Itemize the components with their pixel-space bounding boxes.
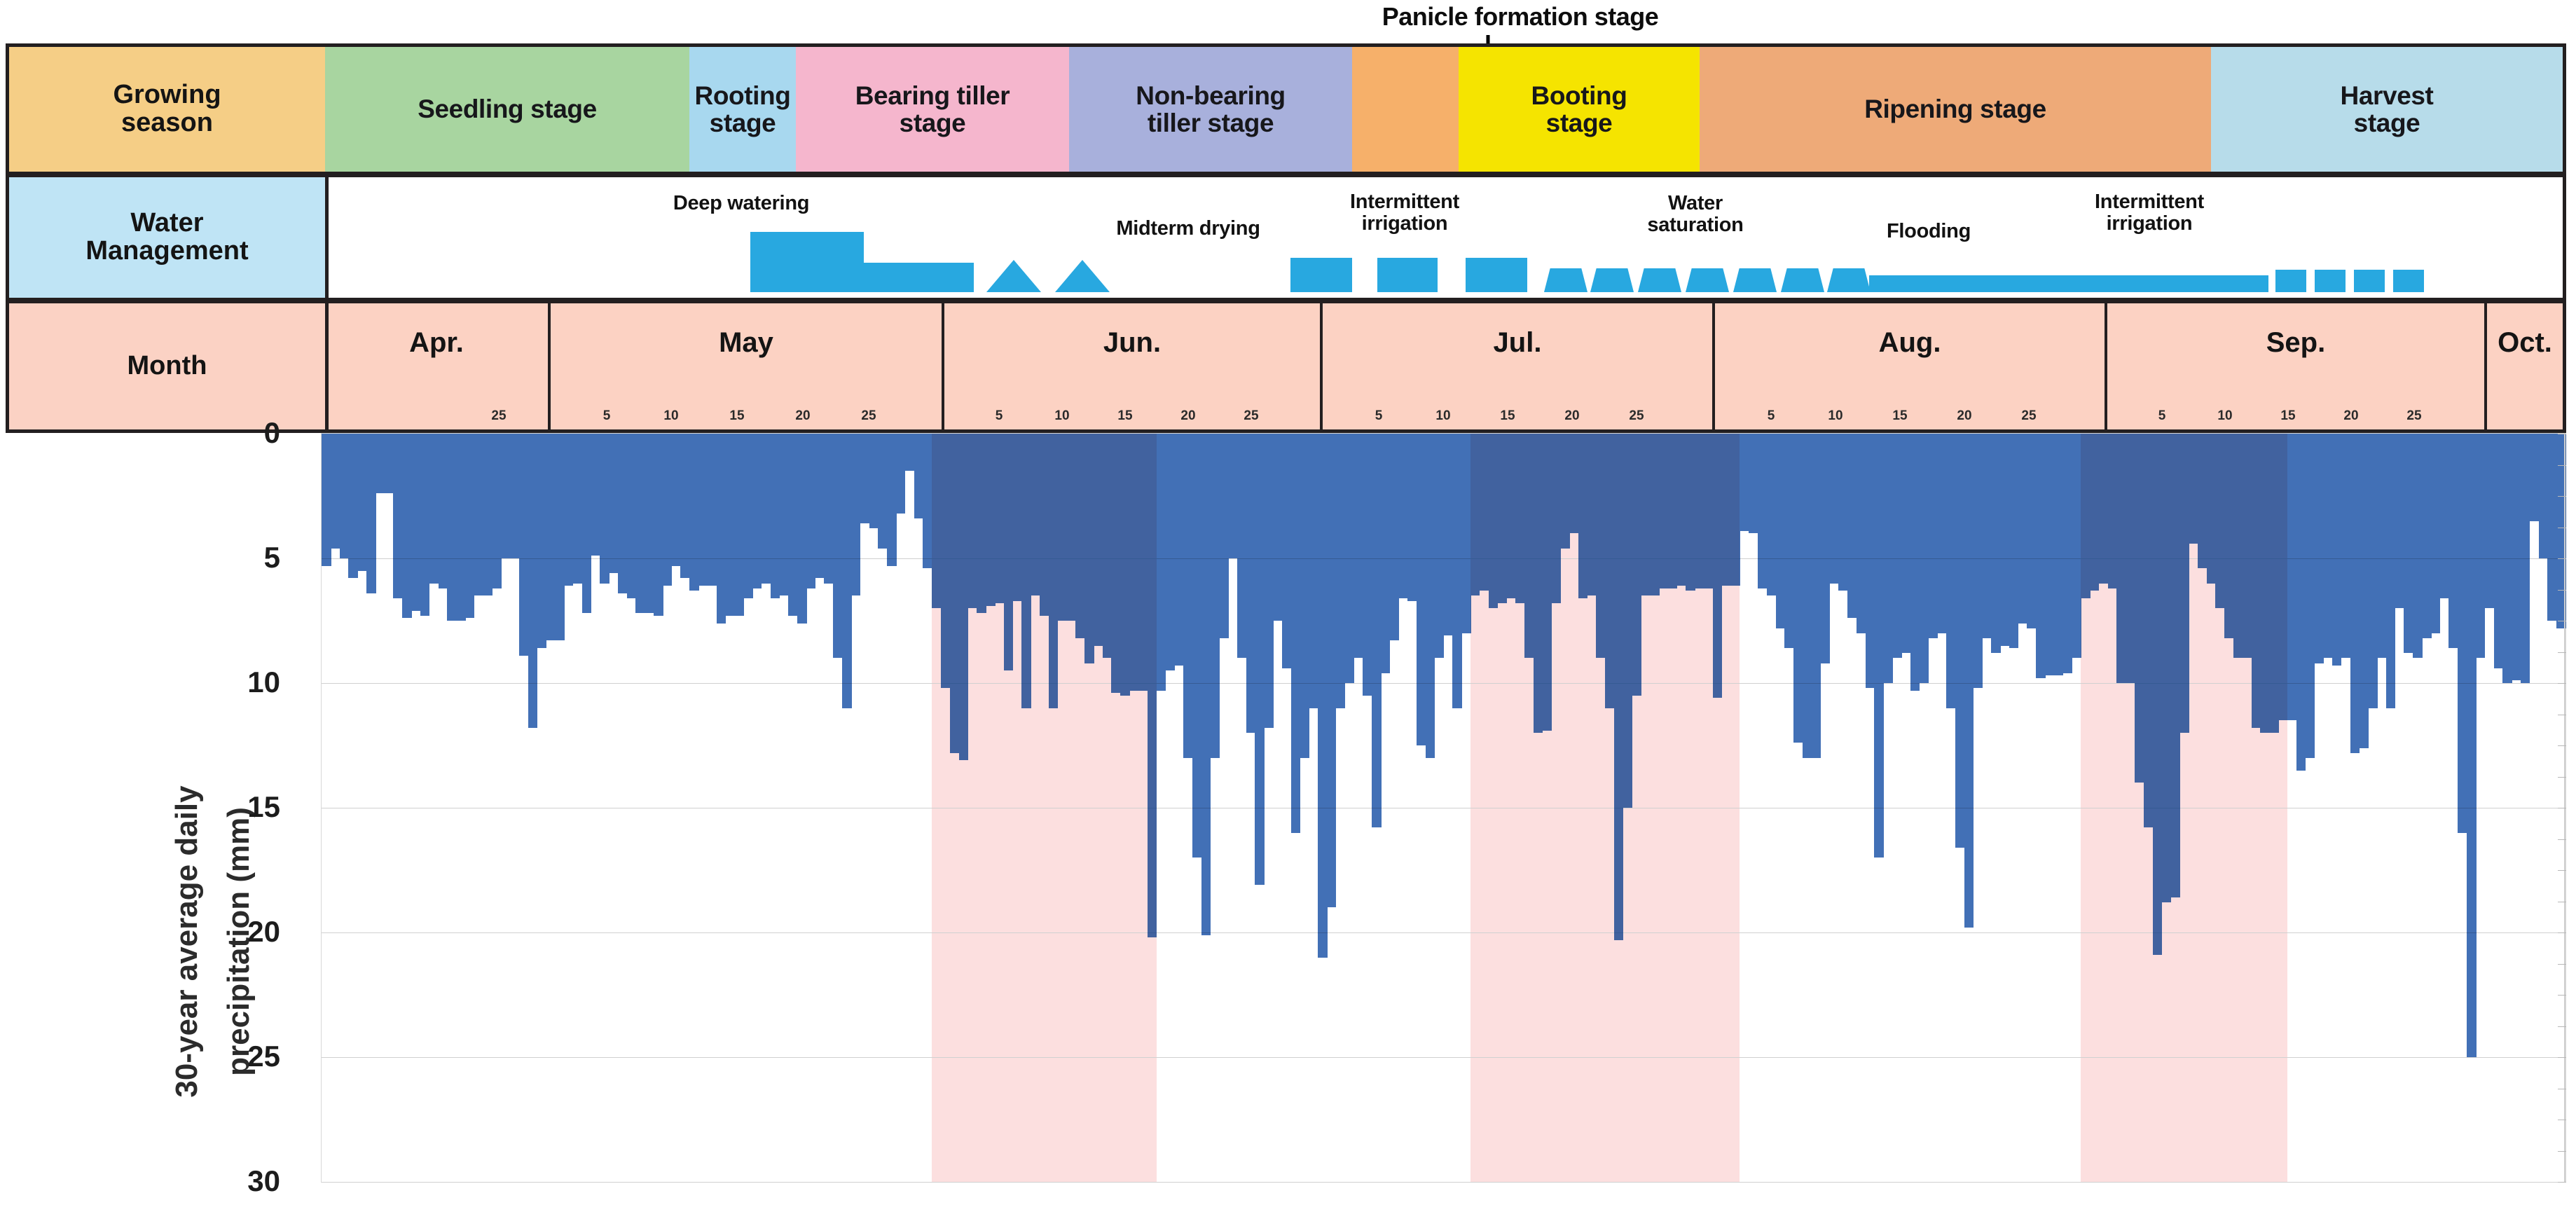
- precipitation-chart: 30-year average daily precipitation (mm)…: [0, 433, 2576, 1212]
- precipitation-bar: [762, 434, 771, 584]
- precipitation-bar: [376, 434, 385, 493]
- right-axis-tick: [2558, 621, 2566, 621]
- precipitation-bar: [2305, 434, 2315, 758]
- precipitation-bar: [1273, 434, 1283, 621]
- precipitation-bars-layer: [322, 434, 2565, 1182]
- day-tick-label: 10: [1435, 408, 1450, 424]
- precipitation-bar: [1489, 434, 1499, 608]
- month-cell-apr: Apr.25: [325, 303, 551, 429]
- growing-stage-ripening-stage: Ripening stage: [1700, 47, 2211, 172]
- growing-season-label-line2: season: [121, 109, 213, 137]
- precipitation-bar: [1623, 434, 1633, 808]
- precipitation-bar: [1542, 434, 1552, 731]
- precipitation-bar: [618, 434, 628, 593]
- precipitation-bar: [609, 434, 619, 573]
- day-tick-label: 15: [729, 408, 744, 424]
- precipitation-bar: [2530, 434, 2540, 521]
- precipitation-bar: [905, 434, 915, 471]
- month-row-label: Month: [9, 303, 329, 429]
- water-shape-trap: [1590, 268, 1634, 292]
- day-tick-label: 15: [1117, 408, 1132, 424]
- month-cell-oct: Oct.: [2487, 303, 2563, 429]
- precipitation-bar: [689, 434, 699, 591]
- precipitation-bar: [564, 434, 574, 586]
- precipitation-bar: [1722, 434, 1732, 586]
- day-tick-label: 5: [1768, 408, 1775, 424]
- precipitation-bar: [743, 434, 753, 598]
- day-tick-label: 10: [1054, 408, 1069, 424]
- growing-season-label-line1: Growing: [113, 81, 221, 109]
- water-shape-rect: [1290, 258, 1352, 292]
- precipitation-bar: [1937, 434, 1947, 633]
- month-name: May: [551, 327, 942, 359]
- day-tick-label: 20: [1564, 408, 1579, 424]
- precipitation-bar: [1300, 434, 1310, 758]
- precipitation-bar: [1094, 434, 1103, 646]
- water-shape-tri: [986, 260, 1041, 292]
- stage-label-line: stage: [710, 109, 776, 137]
- right-axis-tick: [2558, 932, 2566, 933]
- right-axis-tick: [2558, 839, 2566, 840]
- precipitation-bar: [1309, 434, 1318, 708]
- precipitation-bar: [2422, 434, 2432, 638]
- precipitation-bar: [2063, 434, 2073, 673]
- precipitation-bar: [645, 434, 654, 613]
- precipitation-bar: [1964, 434, 1974, 928]
- precipitation-bar: [1569, 434, 1579, 533]
- precipitation-bar: [1659, 434, 1669, 588]
- precipitation-bar: [2404, 434, 2413, 653]
- precipitation-bar: [1040, 434, 1049, 616]
- precipitation-bar: [2260, 434, 2270, 733]
- water-management-label-intermittent-irrigation-1: Intermittentirrigation: [1293, 191, 1517, 235]
- precipitation-bar: [447, 434, 457, 621]
- precipitation-bar: [2368, 434, 2378, 708]
- precipitation-bar: [680, 434, 690, 578]
- precipitation-bar: [1049, 434, 1059, 708]
- precipitation-bar: [1803, 434, 1812, 758]
- precipitation-bar: [483, 434, 493, 595]
- precipitation-bar: [986, 434, 996, 606]
- precipitation-bar: [2009, 434, 2019, 648]
- water-shape-rect: [1869, 275, 2268, 292]
- precipitation-bar: [2243, 434, 2252, 658]
- precipitation-bar: [1120, 434, 1130, 696]
- water-label-line: Intermittent: [1293, 191, 1517, 213]
- precipitation-bar: [2359, 434, 2369, 748]
- precipitation-bar: [860, 434, 870, 523]
- right-axis-tick: [2558, 1026, 2566, 1027]
- precipitation-bar: [1066, 434, 1076, 621]
- precipitation-bar: [492, 434, 502, 588]
- precipitation-bar: [1336, 434, 1346, 708]
- precipitation-bar: [1201, 434, 1211, 935]
- day-tick-label: 20: [795, 408, 810, 424]
- precipitation-bar: [2179, 434, 2189, 733]
- water-shape-rect: [750, 232, 864, 292]
- precipitation-bar: [1138, 434, 1148, 691]
- precipitation-bar: [2233, 434, 2243, 658]
- precipitation-bar: [1452, 434, 1462, 708]
- precipitation-bar: [1210, 434, 1220, 758]
- precipitation-bar: [824, 434, 834, 584]
- precipitation-bar: [1390, 434, 1400, 640]
- water-management-row: Water Management Deep wateringMidterm dr…: [6, 174, 2566, 301]
- precipitation-bar: [537, 434, 546, 648]
- precipitation-bar: [1363, 434, 1372, 696]
- precipitation-bar: [977, 434, 986, 613]
- panicle-formation-annotation: Panicle formation stage: [1254, 1, 1786, 32]
- water-shape-rect: [2315, 270, 2346, 292]
- stage-label-line: stage: [1546, 109, 1613, 137]
- day-tick-label: 20: [1957, 408, 1971, 424]
- precipitation-bar: [1892, 434, 1902, 658]
- precipitation-bar: [2045, 434, 2055, 675]
- precipitation-bar: [2377, 434, 2387, 658]
- precipitation-bar: [2215, 434, 2225, 608]
- precipitation-bar: [1920, 434, 1929, 683]
- precipitation-bar: [1866, 434, 1875, 688]
- water-management-label-line1: Water: [130, 209, 203, 237]
- precipitation-bar: [2448, 434, 2458, 648]
- precipitation-bar: [995, 434, 1005, 603]
- y-tick-25: 25: [175, 1040, 280, 1073]
- precipitation-bar: [1219, 434, 1229, 638]
- precipitation-bar: [429, 434, 439, 584]
- precipitation-bar: [2431, 434, 2441, 633]
- water-shape-trap: [1733, 268, 1777, 292]
- precipitation-bar: [1407, 434, 1417, 601]
- precipitation-bar: [1838, 434, 1848, 591]
- precipitation-bar: [1695, 434, 1704, 588]
- precipitation-bar: [1192, 434, 1202, 858]
- precipitation-bar: [779, 434, 789, 595]
- precipitation-bar: [1381, 434, 1391, 673]
- precipitation-bar: [878, 434, 888, 549]
- precipitation-bar: [1812, 434, 1821, 758]
- precipitation-bar: [1318, 434, 1328, 958]
- precipitation-bar: [2395, 434, 2405, 608]
- day-tick-label: 20: [1180, 408, 1195, 424]
- y-tick-20: 20: [175, 915, 280, 949]
- water-label-line: Water: [1583, 193, 1807, 214]
- precipitation-bar: [967, 434, 977, 608]
- precipitation-bar: [1417, 434, 1426, 745]
- precipitation-bar: [1883, 434, 1893, 683]
- precipitation-bar: [1506, 434, 1516, 598]
- right-axis-tick: [2558, 1182, 2566, 1183]
- precipitation-bar: [2090, 434, 2100, 591]
- precipitation-bar: [635, 434, 645, 613]
- right-axis-tick: [2558, 870, 2566, 871]
- right-axis-tick: [2558, 1120, 2566, 1120]
- stage-label-line: Booting: [1531, 82, 1627, 109]
- precipitation-bar: [806, 434, 816, 588]
- precipitation-bar: [1255, 434, 1265, 885]
- precipitation-bar: [2153, 434, 2163, 955]
- precipitation-bar: [1246, 434, 1256, 733]
- precipitation-bar: [402, 434, 412, 618]
- precipitation-bar: [1444, 434, 1454, 635]
- precipitation-bar: [1578, 434, 1588, 598]
- water-management-label-deep-watering: Deep watering: [629, 193, 853, 214]
- precipitation-bar: [1228, 434, 1238, 558]
- precipitation-bar: [2116, 434, 2126, 683]
- growing-stage-non-bearing-tiller-stage: Non-bearingtiller stage: [1069, 47, 1352, 172]
- precipitation-bar: [1148, 434, 1157, 937]
- precipitation-bar: [2502, 434, 2512, 683]
- right-axis-tick: [2558, 434, 2566, 434]
- precipitation-bar: [2027, 434, 2037, 628]
- precipitation-bar: [1129, 434, 1139, 691]
- precipitation-bar: [842, 434, 852, 708]
- water-label-line: irrigation: [2037, 213, 2261, 235]
- water-label-line: Deep watering: [629, 193, 853, 214]
- right-axis-tick: [2558, 652, 2566, 653]
- precipitation-bar: [2072, 434, 2081, 658]
- precipitation-bar: [2323, 434, 2333, 658]
- precipitation-bar: [627, 434, 637, 598]
- month-name: Apr.: [325, 327, 548, 359]
- month-cell-sep: Sep.510152025: [2107, 303, 2487, 429]
- precipitation-bar: [1991, 434, 2001, 653]
- precipitation-bar: [1461, 434, 1471, 633]
- water-management-label-midterm-drying: Midterm drying: [1076, 218, 1300, 240]
- precipitation-bar: [672, 434, 682, 566]
- precipitation-bar: [1874, 434, 1884, 858]
- precipitation-bar: [2521, 434, 2530, 683]
- precipitation-bar: [1641, 434, 1651, 595]
- right-axis-tick: [2558, 902, 2566, 902]
- right-axis-tick: [2558, 995, 2566, 996]
- water-shape-tri: [1055, 260, 1110, 292]
- precipitation-bar: [2386, 434, 2396, 708]
- precipitation-bar: [357, 434, 367, 571]
- precipitation-bar: [2269, 434, 2279, 733]
- precipitation-bar: [959, 434, 969, 760]
- precipitation-bar: [2341, 434, 2351, 658]
- day-tick-label: 10: [663, 408, 678, 424]
- precipitation-bar: [1327, 434, 1337, 907]
- precipitation-bar: [456, 434, 466, 621]
- right-axis-tick: [2558, 465, 2566, 466]
- stage-label-line: tiller stage: [1148, 109, 1274, 137]
- growing-stage-harvest-stage: Harveststage: [2211, 47, 2563, 172]
- water-management-label: Water Management: [9, 177, 329, 298]
- precipitation-bar: [1605, 434, 1615, 708]
- precipitation-bar: [1291, 434, 1301, 833]
- precipitation-bar: [2467, 434, 2477, 1057]
- precipitation-bar: [2287, 434, 2297, 720]
- month-name: Oct.: [2487, 327, 2563, 359]
- precipitation-bar: [1497, 434, 1507, 603]
- water-shape-trap: [1686, 268, 1729, 292]
- precipitation-bar: [1372, 434, 1382, 827]
- precipitation-bar: [2189, 434, 2198, 544]
- precipitation-bar: [1901, 434, 1911, 653]
- precipitation-bar: [348, 434, 358, 578]
- precipitation-bar: [2108, 434, 2118, 588]
- precipitation-bar: [600, 434, 609, 584]
- precipitation-bar: [1075, 434, 1085, 638]
- precipitation-bar: [2440, 434, 2450, 598]
- precipitation-bar: [2485, 434, 2495, 608]
- precipitation-bar: [2512, 434, 2521, 680]
- precipitation-bar: [1031, 434, 1040, 595]
- precipitation-bar: [2018, 434, 2027, 624]
- growing-stage-panicle-formation-stage: [1352, 47, 1459, 172]
- precipitation-bar: [1470, 434, 1480, 595]
- water-shape-rect: [2354, 270, 2385, 292]
- day-tick-label: 25: [861, 408, 876, 424]
- precipitation-bar: [465, 434, 475, 618]
- precipitation-bar: [734, 434, 744, 616]
- precipitation-bar: [1928, 434, 1938, 638]
- growing-season-label: Growing season: [9, 47, 329, 172]
- month-cell-aug: Aug.510152025: [1715, 303, 2107, 429]
- precipitation-bar: [1704, 434, 1714, 588]
- precipitation-bar: [1784, 434, 1794, 648]
- month-label-text: Month: [128, 352, 207, 380]
- precipitation-bar: [698, 434, 708, 586]
- water-label-line: Flooding: [1817, 221, 2041, 242]
- precipitation-bar: [591, 434, 600, 556]
- y-axis-tick-labels: 051015202530: [168, 433, 280, 1212]
- precipitation-bar: [1614, 434, 1624, 940]
- precipitation-bar: [1677, 434, 1687, 586]
- precipitation-bar: [322, 434, 331, 566]
- precipitation-bar: [1668, 434, 1678, 588]
- day-tick-label: 15: [1500, 408, 1515, 424]
- precipitation-bar: [1758, 434, 1768, 588]
- precipitation-bar: [1013, 434, 1023, 601]
- precipitation-bar: [1650, 434, 1660, 595]
- precipitation-bar: [1776, 434, 1786, 628]
- precipitation-bar: [851, 434, 861, 595]
- water-management-label-line2: Management: [85, 237, 248, 266]
- precipitation-bar: [555, 434, 565, 640]
- water-management-label-water-saturation: Watersaturation: [1583, 193, 1807, 237]
- precipitation-bar: [2458, 434, 2467, 833]
- precipitation-bar: [1560, 434, 1570, 549]
- precipitation-bar: [663, 434, 673, 586]
- precipitation-bar: [519, 434, 529, 656]
- water-shape-rect: [864, 263, 974, 292]
- precipitation-bar: [411, 434, 421, 611]
- growing-stage-booting-stage: Bootingstage: [1459, 47, 1700, 172]
- right-axis-tick: [2558, 590, 2566, 591]
- precipitation-bar: [941, 434, 951, 688]
- precipitation-bar: [1345, 434, 1355, 683]
- water-shape-trap: [1827, 268, 1871, 292]
- right-axis-tick: [2558, 558, 2566, 559]
- precipitation-bar: [1435, 434, 1445, 658]
- stage-label-line: Ripening stage: [1864, 95, 2046, 123]
- day-tick-label: 5: [996, 408, 1003, 424]
- day-tick-label: 25: [1629, 408, 1644, 424]
- gridline: [322, 1182, 2565, 1183]
- precipitation-bar: [1686, 434, 1695, 591]
- precipitation-bar: [2476, 434, 2486, 658]
- y-tick-0: 0: [175, 416, 280, 450]
- right-axis-tick: [2558, 745, 2566, 746]
- day-tick-label: 25: [2406, 408, 2421, 424]
- precipitation-bar: [1829, 434, 1839, 584]
- right-axis-tick: [2558, 1151, 2566, 1152]
- stage-label-line: Bearing tiller: [855, 82, 1010, 109]
- precipitation-bar: [2144, 434, 2154, 827]
- right-axis-tick: [2558, 1057, 2566, 1058]
- day-tick-label: 5: [603, 408, 611, 424]
- precipitation-bar: [1524, 434, 1534, 658]
- month-cell-jul: Jul.510152025: [1323, 303, 1715, 429]
- precipitation-bar: [833, 434, 843, 658]
- precipitation-bar: [896, 434, 906, 514]
- water-shape-rect: [1466, 258, 1527, 292]
- precipitation-bar: [510, 434, 520, 558]
- precipitation-bar: [2413, 434, 2423, 658]
- precipitation-bar: [2350, 434, 2360, 753]
- precipitation-bar: [2207, 434, 2217, 584]
- precipitation-bar: [752, 434, 762, 588]
- precipitation-bar: [1551, 434, 1561, 603]
- precipitation-bar: [2126, 434, 2135, 683]
- precipitation-bar: [2224, 434, 2234, 638]
- right-axis-tick: [2558, 683, 2566, 684]
- month-name: Aug.: [1715, 327, 2105, 359]
- day-tick-label: 20: [2343, 408, 2358, 424]
- precipitation-bar: [2054, 434, 2064, 675]
- day-tick-label: 5: [2158, 408, 2166, 424]
- day-tick-label: 15: [1892, 408, 1907, 424]
- day-tick-label: 25: [2021, 408, 2036, 424]
- precipitation-bar: [797, 434, 807, 624]
- precipitation-bar: [2539, 434, 2549, 558]
- stage-label-line: Rooting: [695, 82, 791, 109]
- precipitation-bar: [1084, 434, 1094, 663]
- water-management-label-intermittent-irrigation-2: Intermittentirrigation: [2037, 191, 2261, 235]
- precipitation-bar: [1111, 434, 1121, 693]
- right-axis-tick: [2558, 1089, 2566, 1089]
- precipitation-bar: [546, 434, 556, 640]
- right-axis-tick: [2558, 496, 2566, 497]
- precipitation-bar: [1982, 434, 1992, 638]
- precipitation-bar: [1354, 434, 1363, 658]
- water-shape-trap: [1781, 268, 1824, 292]
- precipitation-bar: [1632, 434, 1642, 696]
- precipitation-bar: [950, 434, 960, 753]
- precipitation-bar: [1157, 434, 1166, 691]
- precipitation-bar: [2036, 434, 2046, 678]
- precipitation-bar: [573, 434, 583, 584]
- precipitation-bar: [1713, 434, 1723, 698]
- month-name: Jul.: [1323, 327, 1712, 359]
- month-row: Month Apr.25May510152025Jun.510152025Jul…: [6, 300, 2566, 433]
- precipitation-bar: [1058, 434, 1068, 621]
- precipitation-bar: [420, 434, 430, 616]
- water-management-label-flooding: Flooding: [1817, 221, 2041, 242]
- precipitation-bar: [1515, 434, 1525, 603]
- y-tick-30: 30: [175, 1164, 280, 1198]
- y-tick-15: 15: [175, 790, 280, 824]
- growing-season-row: Growing season Seedling stageRootingstag…: [6, 43, 2566, 175]
- precipitation-bar: [1174, 434, 1184, 666]
- precipitation-bar: [474, 434, 484, 595]
- precipitation-bar: [2099, 434, 2109, 584]
- precipitation-bar: [2081, 434, 2091, 598]
- precipitation-bar: [1793, 434, 1803, 743]
- month-name: Sep.: [2107, 327, 2484, 359]
